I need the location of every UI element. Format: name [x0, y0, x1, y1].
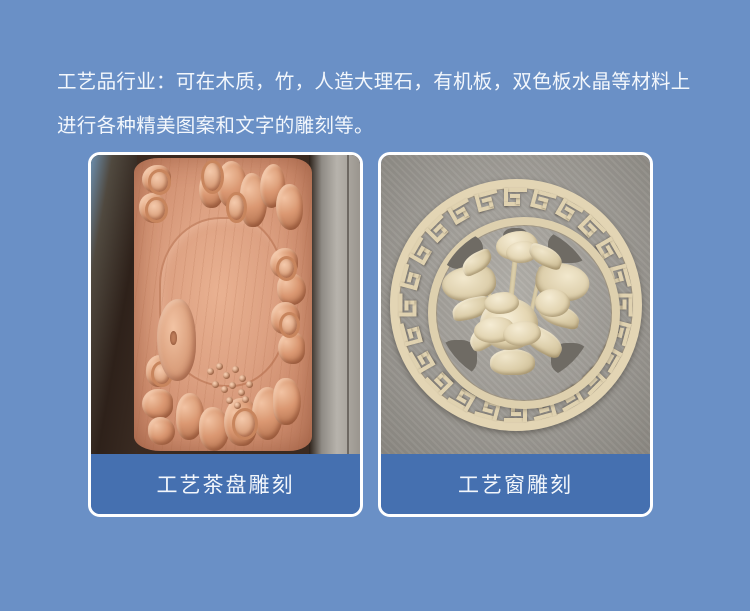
chrysanthemum-motif	[535, 289, 570, 318]
intro-paragraph: 工艺品行业：可在木质，竹，人造大理石，有机板，双色板水晶等材料上进行各种精美图案…	[57, 60, 705, 148]
tea-tray-image	[91, 155, 360, 454]
lotus-bud-motif	[157, 299, 196, 381]
relief-cluster-right	[265, 246, 311, 369]
photo-tea-tray-carving	[91, 155, 360, 454]
round-lattice-panel	[390, 179, 642, 431]
product-card-grid: 工艺茶盘雕刻	[88, 152, 653, 517]
floral-medallion	[436, 225, 596, 385]
berry-dots-cluster	[205, 363, 265, 416]
relief-cluster-top	[194, 158, 308, 234]
carved-wood-tray	[134, 158, 312, 451]
background-left-shadow	[91, 155, 137, 454]
product-card-window-carving[interactable]: 工艺窗雕刻	[378, 152, 653, 517]
card-caption-window-carving: 工艺窗雕刻	[381, 454, 650, 514]
product-card-tea-tray[interactable]: 工艺茶盘雕刻	[88, 152, 363, 517]
photo-window-carving	[381, 155, 650, 454]
relief-cluster-top-left	[138, 161, 184, 231]
window-carving-image	[381, 155, 650, 454]
card-caption-tea-tray: 工艺茶盘雕刻	[91, 454, 360, 514]
background-right-wall	[309, 155, 360, 454]
page-root: 工艺品行业：可在木质，竹，人造大理石，有机板，双色板水晶等材料上进行各种精美图案…	[0, 0, 750, 611]
